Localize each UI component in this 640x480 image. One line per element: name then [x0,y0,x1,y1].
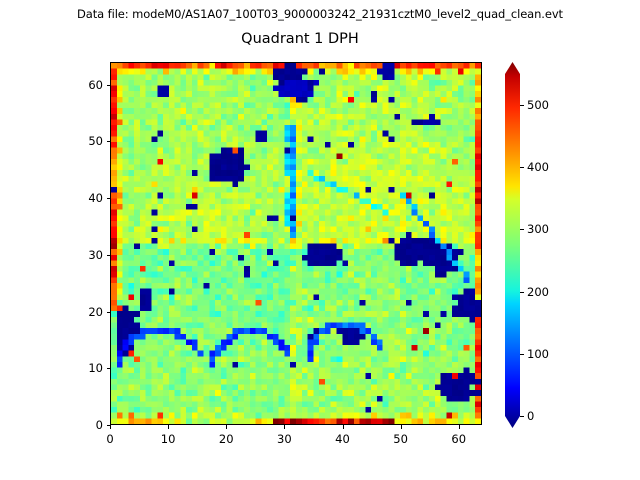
heatmap-axes[interactable] [110,62,482,425]
colorbar-tick-mark [520,229,524,230]
y-tick-label: 20 [88,305,103,319]
x-tick-label: 40 [335,432,350,446]
x-tick-label: 60 [451,432,466,446]
x-tick-label: 20 [219,432,234,446]
x-tick-mark [343,425,344,429]
x-tick-mark [110,425,111,429]
y-tick-mark [107,255,111,256]
y-tick-label: 50 [88,134,103,148]
y-tick-mark [107,425,111,426]
colorbar-tick-mark [520,105,524,106]
colorbar-tick-label: 100 [527,347,549,361]
page-title: Quadrant 1 DPH [0,31,600,47]
y-tick-mark [107,198,111,199]
y-tick-mark [107,141,111,142]
colorbar-gradient [505,62,520,428]
figure-canvas: Data file: modeM0/AS1A07_100T03_90000032… [0,0,640,480]
dph-heatmap-image[interactable] [111,63,481,424]
x-tick-mark [168,425,169,429]
x-tick-label: 10 [161,432,176,446]
y-tick-label: 40 [88,191,103,205]
x-tick-mark [226,425,227,429]
x-tick-mark [284,425,285,429]
x-tick-label: 30 [277,432,292,446]
y-tick-mark [107,85,111,86]
x-tick-mark [401,425,402,429]
x-tick-label: 50 [393,432,408,446]
colorbar-tick-label: 500 [527,98,549,112]
colorbar-tick-mark [520,354,524,355]
colorbar[interactable]: 0100200300400500 [505,62,520,428]
colorbar-tick-label: 200 [527,285,549,299]
colorbar-tick-mark [520,167,524,168]
colorbar-tick-label: 300 [527,222,549,236]
y-tick-mark [107,368,111,369]
y-tick-label: 0 [96,418,103,432]
data-file-caption: Data file: modeM0/AS1A07_100T03_90000032… [0,7,640,21]
colorbar-tick-mark [520,292,524,293]
y-tick-label: 60 [88,78,103,92]
y-tick-label: 10 [88,361,103,375]
x-tick-mark [459,425,460,429]
colorbar-tick-mark [520,416,524,417]
y-tick-label: 30 [88,248,103,262]
x-tick-label: 0 [106,432,113,446]
colorbar-tick-label: 400 [527,160,549,174]
y-tick-mark [107,312,111,313]
colorbar-tick-label: 0 [527,409,534,423]
